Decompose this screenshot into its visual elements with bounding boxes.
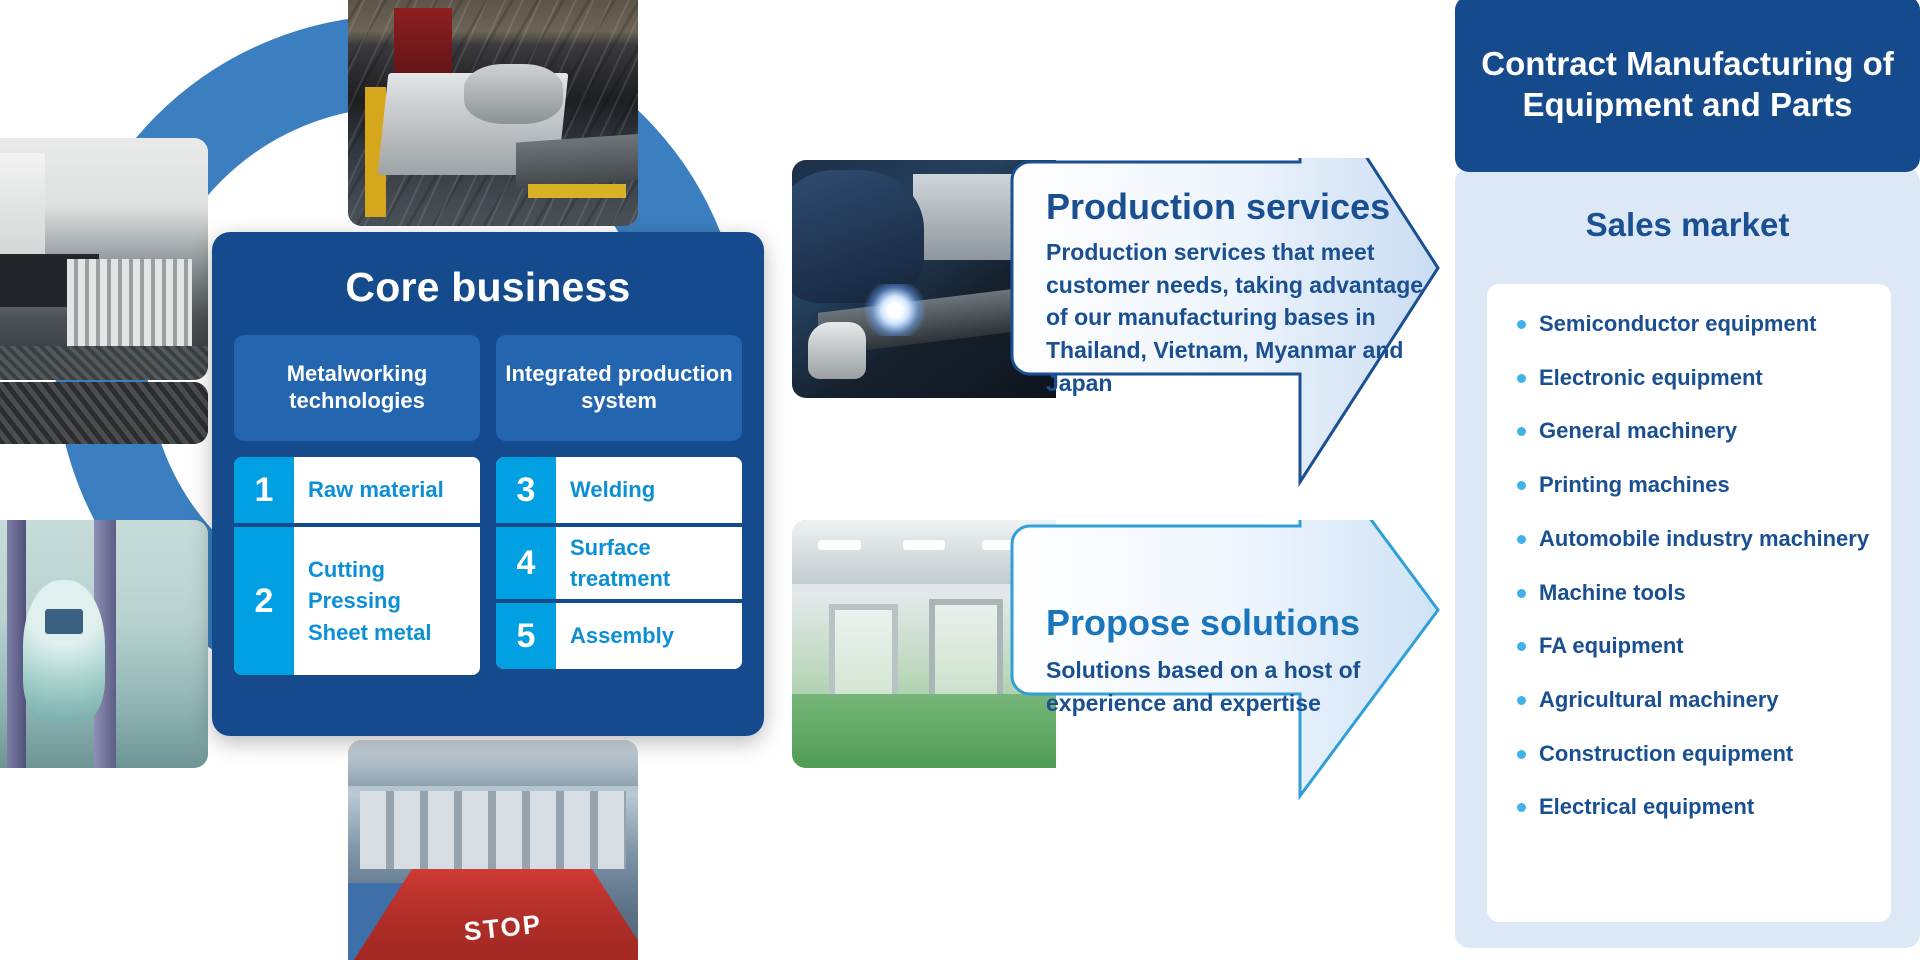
- arrow-production-body: Production services that meet customer n…: [1046, 236, 1424, 399]
- process-row-1[interactable]: 1 Raw material: [234, 457, 480, 523]
- arrow-production-title: Production services: [1046, 186, 1424, 228]
- list-item: Machine tools: [1515, 579, 1881, 607]
- core-business-cluster: STOP Core business Metalworking technolo…: [0, 0, 1000, 960]
- column-heading-metalworking: Metalworking technologies: [234, 335, 480, 441]
- arrow-propose-text: Propose solutions Solutions based on a h…: [1046, 602, 1418, 719]
- infographic-canvas: STOP Core business Metalworking technolo…: [0, 0, 1920, 960]
- arrow-propose-title: Propose solutions: [1046, 602, 1418, 644]
- process-number-2: 2: [234, 527, 294, 675]
- process-row-5[interactable]: 5 Assembly: [496, 603, 742, 669]
- photo-punch-press-machine: [348, 0, 638, 226]
- sales-market-list-box: Semiconductor equipment Electronic equip…: [1487, 284, 1891, 922]
- list-item: Automobile industry machinery: [1515, 525, 1881, 553]
- process-line: Sheet metal: [308, 617, 466, 648]
- process-number-5: 5: [496, 603, 556, 669]
- core-business-columns: Metalworking technologies 1 Raw material…: [234, 335, 742, 675]
- integrated-production-rows: 3 Welding 4 Surface treatment: [496, 457, 742, 669]
- column-metalworking-technologies: Metalworking technologies 1 Raw material…: [234, 335, 480, 675]
- process-label-cutting-pressing-sheetmetal: Cutting Pressing Sheet metal: [294, 527, 480, 675]
- list-item: General machinery: [1515, 417, 1881, 445]
- arrow-production-services: Production services Production services …: [1008, 158, 1440, 578]
- process-line: treatment: [570, 563, 728, 594]
- process-label-assembly: Assembly: [556, 603, 742, 669]
- sales-market-title: Sales market: [1455, 206, 1920, 244]
- process-line: Raw material: [308, 475, 466, 505]
- list-item: Agricultural machinery: [1515, 686, 1881, 714]
- photo-wet-grinding-station: [0, 382, 208, 444]
- core-business-title: Core business: [234, 264, 742, 311]
- list-item: FA equipment: [1515, 632, 1881, 660]
- photo-cnc-machining-center: [0, 138, 208, 380]
- list-item: Electrical equipment: [1515, 793, 1881, 821]
- process-label-surface-treatment: Surface treatment: [556, 527, 742, 599]
- contract-manufacturing-title: Contract Manufacturing of Equipment and …: [1455, 43, 1920, 126]
- column-integrated-production-system: Integrated production system 3 Welding 4…: [496, 335, 742, 675]
- photo-paint-booth-operator: [0, 520, 208, 768]
- list-item: Electronic equipment: [1515, 364, 1881, 392]
- column-heading-integrated-production: Integrated production system: [496, 335, 742, 441]
- process-label-raw-material: Raw material: [294, 457, 480, 523]
- process-line: Cutting: [308, 554, 466, 585]
- sales-market-list: Semiconductor equipment Electronic equip…: [1515, 310, 1881, 821]
- metalworking-rows: 1 Raw material 2 Cutting Pressing Sheet …: [234, 457, 480, 675]
- arrow-production-text: Production services Production services …: [1046, 186, 1424, 399]
- process-row-2[interactable]: 2 Cutting Pressing Sheet metal: [234, 527, 480, 675]
- process-row-3[interactable]: 3 Welding: [496, 457, 742, 523]
- arrow-propose-body: Solutions based on a host of experience …: [1046, 654, 1418, 719]
- process-number-4: 4: [496, 527, 556, 599]
- photo-factory-floor-stop-lane: STOP: [348, 740, 638, 960]
- process-line: Pressing: [308, 585, 466, 616]
- contract-manufacturing-header: Contract Manufacturing of Equipment and …: [1455, 0, 1920, 172]
- list-item: Semiconductor equipment: [1515, 310, 1881, 338]
- process-label-welding: Welding: [556, 457, 742, 523]
- process-line: Surface: [570, 532, 728, 563]
- process-number-3: 3: [496, 457, 556, 523]
- process-line: Welding: [570, 475, 728, 505]
- core-business-card: Core business Metalworking technologies …: [212, 232, 764, 736]
- process-number-1: 1: [234, 457, 294, 523]
- arrow-propose-solutions: Propose solutions Solutions based on a h…: [1008, 520, 1440, 880]
- list-item: Printing machines: [1515, 471, 1881, 499]
- list-item: Construction equipment: [1515, 740, 1881, 768]
- process-row-4[interactable]: 4 Surface treatment: [496, 527, 742, 599]
- process-line: Assembly: [570, 621, 728, 651]
